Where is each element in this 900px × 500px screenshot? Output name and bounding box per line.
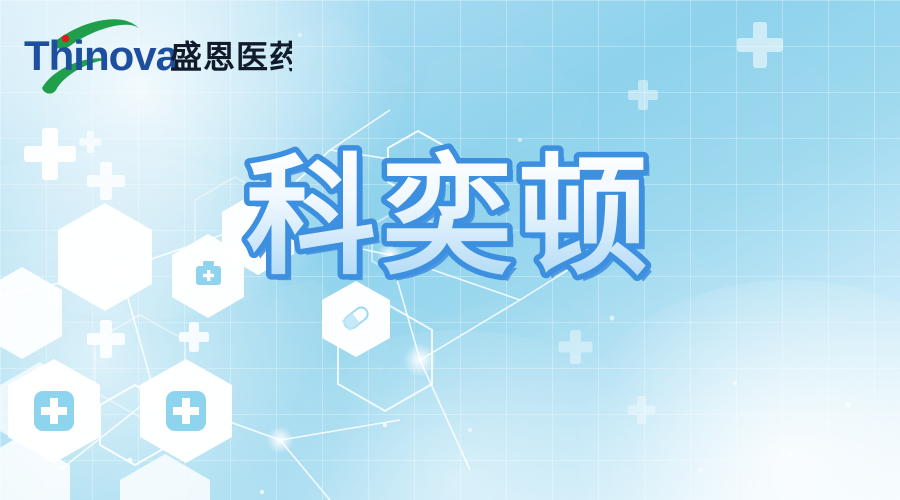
logo-i-dot [62,35,70,43]
logo-chinese-name: 盛恩医药 [170,39,292,75]
promo-banner: Thinova 盛恩医药 [0,0,900,500]
logo-wordmark: Thinova [24,32,180,79]
headline-block: 科奕顿 科奕顿 科奕顿 科奕顿 [0,132,900,432]
headline-text: 科奕顿 [246,144,654,290]
headline-reflection: 科奕顿 [246,284,654,430]
company-logo: Thinova 盛恩医药 [22,14,292,94]
svg-text:科奕顿: 科奕顿 [246,284,654,430]
